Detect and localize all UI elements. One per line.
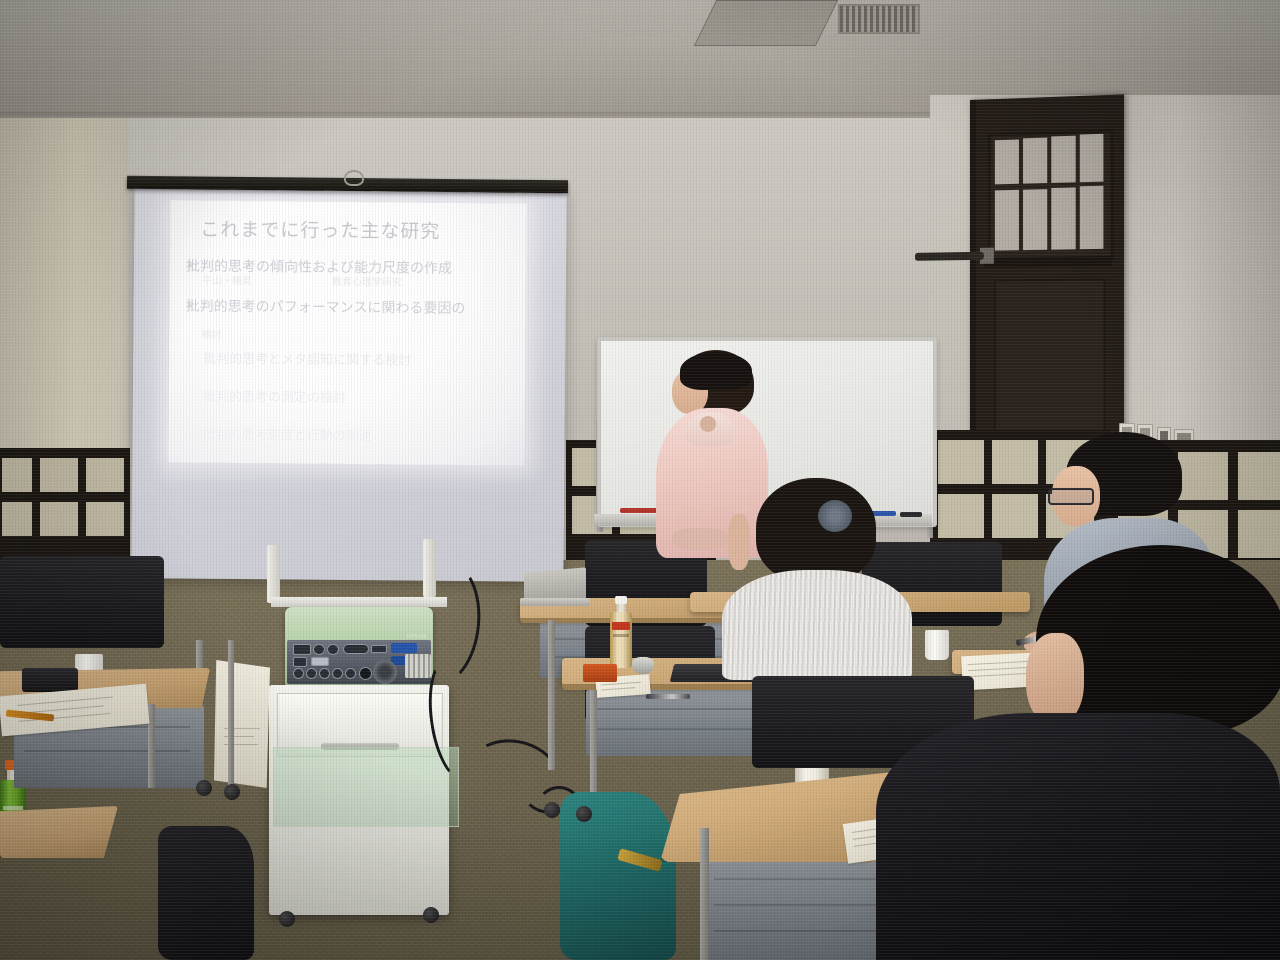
slide-bullet-1-subtext: 平山・楠見 教育心理学研究 bbox=[202, 275, 512, 291]
desk-leg-foreground bbox=[700, 828, 709, 960]
desk-left-lower bbox=[0, 806, 118, 858]
black-pen[interactable] bbox=[646, 694, 690, 699]
desk-leg-center-1 bbox=[548, 620, 555, 770]
desk-caster-left-1 bbox=[196, 780, 212, 796]
hair-clip bbox=[818, 500, 852, 532]
wall-lattice-left bbox=[0, 448, 130, 566]
black-bag-under-desk[interactable] bbox=[158, 826, 254, 960]
ceiling-vent-grille-icon bbox=[838, 4, 920, 34]
bag-strap-buckle-icon bbox=[617, 848, 663, 872]
chair-left-back[interactable] bbox=[0, 556, 164, 648]
projected-slide: これまでに行った主な研究 批判的思考の傾向性および能力尺度の作成 平山・楠見 教… bbox=[168, 200, 526, 465]
slide-faint-line-1: 批判的思考とメタ認知に関する検討 bbox=[203, 351, 503, 371]
attendee-woman-arm bbox=[728, 514, 750, 570]
presenter-hair-top bbox=[680, 352, 752, 390]
digital-camera[interactable] bbox=[22, 668, 78, 692]
cart-caster-right bbox=[423, 907, 439, 923]
presenter-neckline bbox=[700, 416, 716, 432]
cart-shelf bbox=[273, 747, 459, 827]
desk-caster-left-2 bbox=[224, 784, 240, 800]
attendee-woman-hair bbox=[756, 478, 876, 582]
desk-caster-center-1 bbox=[544, 802, 560, 818]
orange-box[interactable] bbox=[583, 664, 617, 682]
open-laptop-silver-base[interactable] bbox=[520, 598, 590, 606]
foreground-man-face bbox=[1026, 633, 1084, 725]
slide-faint-line-2: 批判的思考の測定の検討 bbox=[203, 389, 503, 409]
projection-screen: これまでに行った主な研究 批判的思考の傾向性および能力尺度の作成 平山・楠見 教… bbox=[131, 186, 566, 582]
desk-leg-left-3 bbox=[228, 640, 234, 786]
computer-mouse[interactable] bbox=[632, 657, 654, 674]
presenter-hands bbox=[672, 528, 728, 550]
seminar-room-photo: これまでに行った主な研究 批判的思考の傾向性および能力尺度の作成 平山・楠見 教… bbox=[0, 0, 1280, 960]
desk-leg-left-1 bbox=[148, 704, 155, 788]
door-transom-window bbox=[988, 129, 1114, 261]
tea-bottle-front-desk[interactable] bbox=[610, 596, 632, 668]
attendee-foreground-man bbox=[876, 545, 1280, 960]
cart-caster-left bbox=[279, 911, 295, 927]
slide-bullet-2-cont: 検討 bbox=[201, 329, 501, 345]
door-handle-icon[interactable] bbox=[915, 252, 984, 261]
door-rail bbox=[984, 256, 1112, 268]
desk-caster-center-2 bbox=[576, 806, 592, 822]
ceiling-vent-diffuser-icon bbox=[694, 0, 838, 46]
slide-faint-line-3: 批判的思考態度と行動の関連 bbox=[202, 427, 502, 447]
screen-hook-icon bbox=[344, 170, 364, 186]
slide-title: これまでに行った主な研究 bbox=[200, 215, 500, 245]
white-paper-bag[interactable] bbox=[214, 660, 270, 788]
eyeglasses-icon bbox=[1048, 488, 1094, 505]
foreground-man-jacket bbox=[876, 713, 1280, 960]
slide-bullet-2: 批判的思考のパフォーマンスに関わる要因の bbox=[186, 297, 516, 318]
